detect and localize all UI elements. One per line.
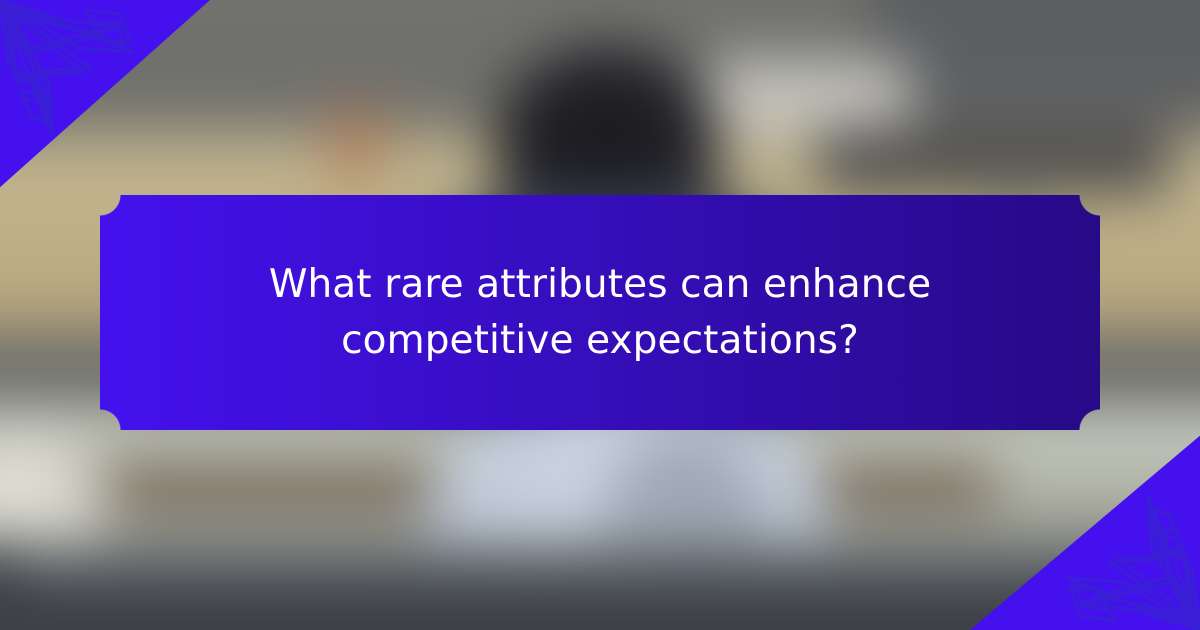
quote-card-canvas: What rare attributes can enhance competi… <box>0 0 1200 630</box>
headline-banner: What rare attributes can enhance competi… <box>100 195 1100 430</box>
headline-text: What rare attributes can enhance competi… <box>204 257 996 368</box>
background-object-orange <box>329 104 383 179</box>
background-cabinet-shadow <box>817 127 1170 195</box>
background-cabinet-highlight <box>709 59 913 134</box>
